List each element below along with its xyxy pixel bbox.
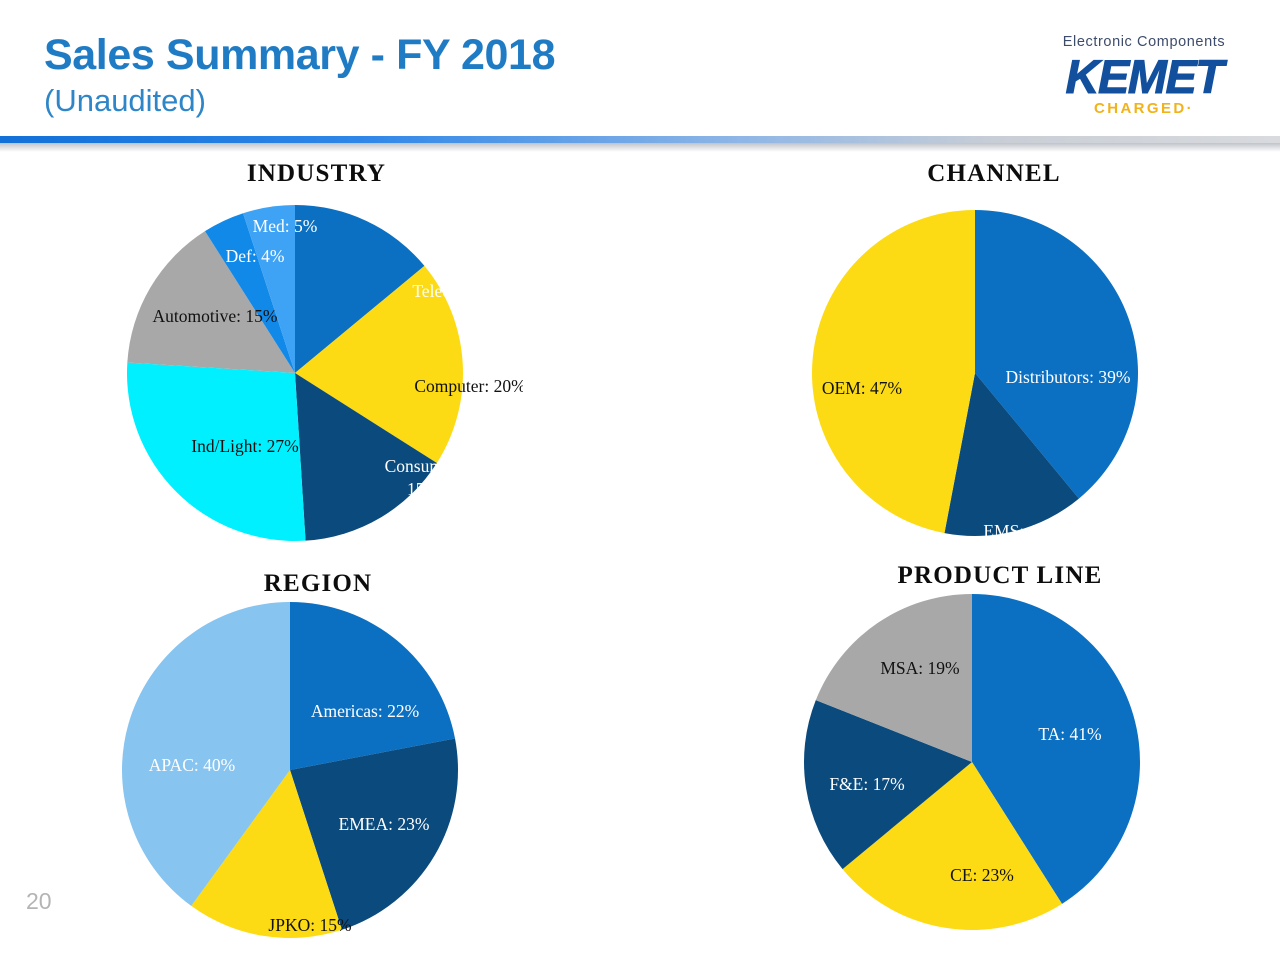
page-subtitle: (Unaudited) <box>44 82 555 120</box>
chart-panel-region: REGION Americas: 22%EMEA: 23%JPKO: 15%AP… <box>118 570 518 968</box>
logo-wordmark: KEMET <box>1044 51 1244 103</box>
pie-chart-productline[interactable]: TA: 41%CE: 23%F&E: 17%MSA: 19% <box>800 590 1200 960</box>
pie-svg: Telecom: 14%Computer: 20%Consumer:15%Ind… <box>110 188 523 571</box>
page-number: 20 <box>26 888 52 915</box>
pie-slice-label: Telecom: 14% <box>412 281 513 301</box>
pie-slice-label: Med: 5% <box>253 216 318 236</box>
pie-chart-channel[interactable]: Distributors: 39%EMS: 14%OEM: 47% <box>790 188 1198 566</box>
chart-title: INDUSTRY <box>110 160 523 188</box>
page-title: Sales Summary - FY 2018 <box>44 30 555 80</box>
chart-panel-productline: PRODUCT LINE TA: 41%CE: 23%F&E: 17%MSA: … <box>800 562 1200 960</box>
pie-slice-label: EMEA: 23% <box>339 814 430 834</box>
pie-slice-label: Automotive: 15% <box>153 306 278 326</box>
pie-slice-label: CE: 23% <box>950 865 1014 885</box>
pie-slice-label: TA: 41% <box>1038 724 1101 744</box>
chart-title: CHANNEL <box>790 160 1198 188</box>
pie-slice-label: Ind/Light: 27% <box>191 436 298 456</box>
pie-slice-label: MSA: 19% <box>880 658 959 678</box>
pie-chart-region[interactable]: Americas: 22%EMEA: 23%JPKO: 15%APAC: 40% <box>118 598 518 968</box>
pie-slice-label: Def: 4% <box>226 246 285 266</box>
header-divider <box>0 136 1280 143</box>
chart-title: REGION <box>118 570 518 598</box>
pie-slice-oem[interactable] <box>812 210 975 533</box>
pie-svg: TA: 41%CE: 23%F&E: 17%MSA: 19% <box>800 590 1200 960</box>
chart-panel-industry: INDUSTRY Telecom: 14%Computer: 20%Consum… <box>110 160 523 571</box>
title-block: Sales Summary - FY 2018 (Unaudited) <box>44 30 555 120</box>
logo-tagline-top: Electronic Components <box>1044 34 1244 51</box>
pie-slice-label: Distributors: 39% <box>1006 367 1131 387</box>
pie-slice-label: Computer: 20% <box>414 376 523 396</box>
header-divider-shadow <box>0 143 1280 152</box>
pie-slice-label: APAC: 40% <box>149 755 235 775</box>
slide-header: Sales Summary - FY 2018 (Unaudited) Elec… <box>0 0 1280 140</box>
kemet-logo: Electronic Components KEMET CHARGED· <box>1044 34 1244 130</box>
pie-slice-label: F&E: 17% <box>829 774 904 794</box>
chart-title: PRODUCT LINE <box>800 562 1200 590</box>
pie-slice-label: EMS: 14% <box>983 521 1060 541</box>
pie-chart-industry[interactable]: Telecom: 14%Computer: 20%Consumer:15%Ind… <box>110 188 523 571</box>
chart-panel-channel: CHANNEL Distributors: 39%EMS: 14%OEM: 47… <box>790 160 1198 566</box>
pie-slice-label: Americas: 22% <box>311 701 419 721</box>
pie-slice-label: OEM: 47% <box>822 378 902 398</box>
pie-svg: Americas: 22%EMEA: 23%JPKO: 15%APAC: 40% <box>118 598 518 968</box>
pie-svg: Distributors: 39%EMS: 14%OEM: 47% <box>790 188 1198 566</box>
pie-slice-label: JPKO: 15% <box>268 915 351 935</box>
